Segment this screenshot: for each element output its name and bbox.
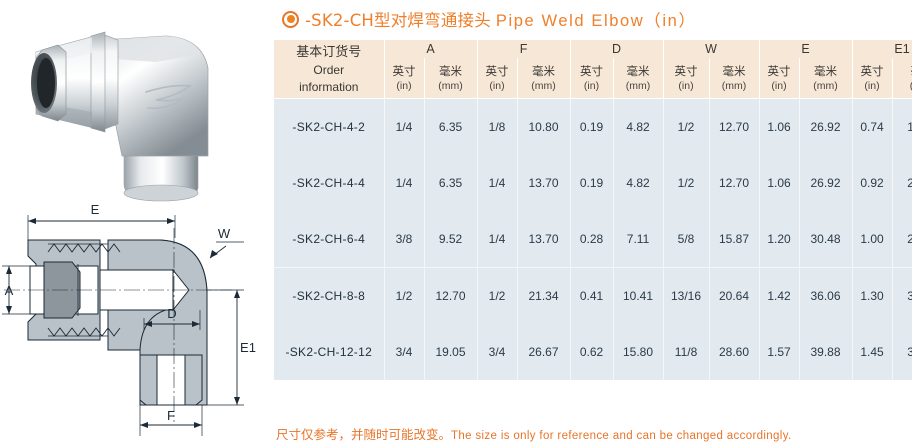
subheader-w-in-cn: 英寸 <box>664 64 709 79</box>
cell-f-mm: 13.70 <box>517 155 570 211</box>
footer-note: 尺寸仅参考，并随时可能改变。The size is only for refer… <box>276 424 912 443</box>
cell-w-in: 1/2 <box>663 99 709 156</box>
page-title-cn: -SK2-CH型对焊弯通接头 <box>305 11 491 30</box>
subheader-d-mm-unit: (mm) <box>614 79 663 93</box>
drawing-label-e1: E1 <box>240 340 256 355</box>
subheader-a-mm-unit: (mm) <box>425 79 477 93</box>
subheader-a-in-cn: 英寸 <box>385 64 424 79</box>
cell-f-in: 1/4 <box>477 211 517 268</box>
subheader-f-mm: 毫米(mm) <box>517 58 570 99</box>
subheader-e-mm: 毫米(mm) <box>799 58 852 99</box>
cell-d-in: 0.28 <box>570 211 613 268</box>
cell-a-mm: 12.70 <box>424 268 477 325</box>
header-group-d: D <box>570 40 663 58</box>
subheader-e1-mm-unit: (mm) <box>893 79 912 93</box>
cell-d-mm: 7.11 <box>613 211 663 268</box>
arrow-e1-bottom <box>234 397 240 405</box>
subheader-a-in-unit: (in) <box>385 79 424 93</box>
cell-e1-mm: 23.37 <box>892 155 912 211</box>
subheader-d-in: 英寸(in) <box>570 58 613 99</box>
cell-e-mm: 30.48 <box>799 211 852 268</box>
arrow-a-top <box>6 266 12 274</box>
arrow-e-right <box>167 218 175 224</box>
cell-order: -SK2-CH-4-2 <box>274 99 384 156</box>
cell-w-in: 1/2 <box>663 155 709 211</box>
cell-e1-in: 0.74 <box>852 99 892 156</box>
cell-order: -SK2-CH-12-12 <box>274 324 384 380</box>
cell-d-in: 0.41 <box>570 268 613 325</box>
header-order-en1: Order <box>274 62 384 79</box>
subheader-e1-in-unit: (in) <box>853 79 892 93</box>
cell-e1-in: 1.00 <box>852 211 892 268</box>
cell-w-in: 5/8 <box>663 211 709 268</box>
subheader-e-in: 英寸(in) <box>759 58 799 99</box>
cell-d-mm: 10.41 <box>613 268 663 325</box>
cell-f-in: 1/4 <box>477 155 517 211</box>
cell-a-in: 3/4 <box>384 324 424 380</box>
subheader-w-in-unit: (in) <box>664 79 709 93</box>
cell-d-in: 0.19 <box>570 99 613 156</box>
cell-e-in: 1.42 <box>759 268 799 325</box>
drawing-label-d: D <box>167 306 176 321</box>
right-content-column: -SK2-CH型对焊弯通接头 Pipe Weld Elbow（in） 基本订货号… <box>272 0 912 446</box>
cell-a-mm: 9.52 <box>424 211 477 268</box>
subheader-f-in: 英寸(in) <box>477 58 517 99</box>
arrow-e-left <box>28 218 36 224</box>
subheader-f-in-cn: 英寸 <box>478 64 517 79</box>
cell-e1-in: 1.45 <box>852 324 892 380</box>
table-row: -SK2-CH-12-12 3/4 19.05 3/4 26.67 0.62 1… <box>274 324 912 380</box>
drawing-label-w: W <box>218 226 231 241</box>
header-group-e: E <box>759 40 852 58</box>
photo-leg-end <box>124 185 198 201</box>
subheader-e-mm-unit: (mm) <box>800 79 852 93</box>
cell-order: -SK2-CH-8-8 <box>274 268 384 325</box>
subheader-f-mm-cn: 毫米 <box>518 64 570 79</box>
cell-e-mm: 36.06 <box>799 268 852 325</box>
subheader-w-mm: 毫米(mm) <box>709 58 759 99</box>
subheader-w-in: 英寸(in) <box>663 58 709 99</box>
subheader-d-mm: 毫米(mm) <box>613 58 663 99</box>
subheader-e1-mm-cn: 毫米 <box>893 64 912 79</box>
subheader-f-mm-unit: (mm) <box>518 79 570 93</box>
header-order-en2: information <box>274 79 384 96</box>
header-group-e1: E1 <box>852 40 912 58</box>
table-row: -SK2-CH-8-8 1/2 12.70 1/2 21.34 0.41 10.… <box>274 268 912 325</box>
cell-w-mm: 15.87 <box>709 211 759 268</box>
cell-e1-mm: 18.80 <box>892 99 912 156</box>
cell-a-in: 3/8 <box>384 211 424 268</box>
arrow-f-right <box>194 422 202 428</box>
subheader-e1-in: 英寸(in) <box>852 58 892 99</box>
photo-bore-inner <box>37 58 55 108</box>
cell-e-in: 1.57 <box>759 324 799 380</box>
header-group-w: W <box>663 40 759 58</box>
drawing-leg-bore <box>157 355 185 405</box>
cell-a-mm: 6.35 <box>424 99 477 156</box>
header-group-a: A <box>384 40 477 58</box>
subheader-e1-in-cn: 英寸 <box>853 64 892 79</box>
table-row: -SK2-CH-4-4 1/4 6.35 1/4 13.70 0.19 4.82… <box>274 155 912 211</box>
cell-d-mm: 4.82 <box>613 155 663 211</box>
cell-w-in: 11/8 <box>663 324 709 380</box>
technical-drawing-image: E W A D E1 F <box>0 200 272 446</box>
footer-note-cn: 尺寸仅参考，并随时可能改变。 <box>276 427 451 442</box>
cell-w-mm: 28.60 <box>709 324 759 380</box>
cell-f-mm: 26.67 <box>517 324 570 380</box>
bullet-icon <box>282 11 299 28</box>
subheader-e1-mm: 毫米(mm) <box>892 58 912 99</box>
table-row: -SK2-CH-4-2 1/4 6.35 1/8 10.80 0.19 4.82… <box>274 99 912 156</box>
arrow-a-bottom <box>6 306 12 314</box>
cell-d-mm: 4.82 <box>613 99 663 156</box>
cell-order: -SK2-CH-6-4 <box>274 211 384 268</box>
subheader-d-in-cn: 英寸 <box>571 64 613 79</box>
arrow-f-left <box>140 422 148 428</box>
cell-e1-in: 1.30 <box>852 268 892 325</box>
cell-d-mm: 15.80 <box>613 324 663 380</box>
subheader-a-mm: 毫米(mm) <box>424 58 477 99</box>
drawing-label-a: A <box>5 283 14 298</box>
page-title-en: Pipe Weld Elbow（in） <box>496 12 697 30</box>
subheader-e-in-unit: (in) <box>760 79 799 93</box>
cell-f-in: 1/8 <box>477 99 517 156</box>
subheader-a-in: 英寸(in) <box>384 58 424 99</box>
cell-e1-mm: 36.83 <box>892 324 912 380</box>
header-order-information: 基本订货号 Order information <box>274 40 384 99</box>
cell-e-in: 1.20 <box>759 211 799 268</box>
cell-a-in: 1/4 <box>384 99 424 156</box>
cell-w-mm: 12.70 <box>709 155 759 211</box>
cell-e1-mm: 33.02 <box>892 268 912 325</box>
specification-table: 基本订货号 Order information A F D W E E1 英寸(… <box>274 40 912 380</box>
drawing-label-f: F <box>167 408 175 423</box>
section-title: -SK2-CH型对焊弯通接头 Pipe Weld Elbow（in） <box>272 4 697 34</box>
technical-drawing: E W A D E1 F <box>0 200 272 446</box>
cell-e1-mm: 25.40 <box>892 211 912 268</box>
cell-f-mm: 10.80 <box>517 99 570 156</box>
table-row: -SK2-CH-6-4 3/8 9.52 1/4 13.70 0.28 7.11… <box>274 211 912 268</box>
cell-a-in: 1/2 <box>384 268 424 325</box>
product-photo <box>6 6 268 202</box>
product-photo-image <box>6 6 268 202</box>
subheader-d-in-unit: (in) <box>571 79 613 93</box>
subheader-w-mm-unit: (mm) <box>710 79 759 93</box>
cell-a-mm: 6.35 <box>424 155 477 211</box>
cell-e-mm: 26.92 <box>799 99 852 156</box>
cell-f-mm: 13.70 <box>517 211 570 268</box>
subheader-f-in-unit: (in) <box>478 79 517 93</box>
subheader-e-mm-cn: 毫米 <box>800 64 852 79</box>
arrow-w <box>210 250 218 258</box>
cell-w-mm: 20.64 <box>709 268 759 325</box>
table-header-row-top: 基本订货号 Order information A F D W E E1 <box>274 40 912 58</box>
cell-a-mm: 19.05 <box>424 324 477 380</box>
footer-note-en: The size is only for reference and can b… <box>451 430 791 442</box>
photo-ferrule-ring <box>91 32 105 132</box>
cell-e-mm: 39.88 <box>799 324 852 380</box>
arrow-e1-top <box>234 290 240 298</box>
drawing-label-e: E <box>91 202 100 217</box>
header-order-cn: 基本订货号 <box>274 43 384 62</box>
cell-f-mm: 21.34 <box>517 268 570 325</box>
header-group-f: F <box>477 40 570 58</box>
subheader-d-mm-cn: 毫米 <box>614 64 663 79</box>
subheader-a-mm-cn: 毫米 <box>425 64 477 79</box>
left-illustration-column: E W A D E1 F <box>0 0 272 446</box>
cell-e-in: 1.06 <box>759 155 799 211</box>
cell-order: -SK2-CH-4-4 <box>274 155 384 211</box>
cell-w-mm: 12.70 <box>709 99 759 156</box>
cell-f-in: 1/2 <box>477 268 517 325</box>
cell-d-in: 0.62 <box>570 324 613 380</box>
cell-d-in: 0.19 <box>570 155 613 211</box>
cell-f-in: 3/4 <box>477 324 517 380</box>
subheader-w-mm-cn: 毫米 <box>710 64 759 79</box>
cell-e1-in: 0.92 <box>852 155 892 211</box>
cell-e-in: 1.06 <box>759 99 799 156</box>
page-title: -SK2-CH型对焊弯通接头 Pipe Weld Elbow（in） <box>305 7 697 31</box>
cell-w-in: 13/16 <box>663 268 709 325</box>
cell-a-in: 1/4 <box>384 155 424 211</box>
cell-e-mm: 26.92 <box>799 155 852 211</box>
subheader-e-in-cn: 英寸 <box>760 64 799 79</box>
